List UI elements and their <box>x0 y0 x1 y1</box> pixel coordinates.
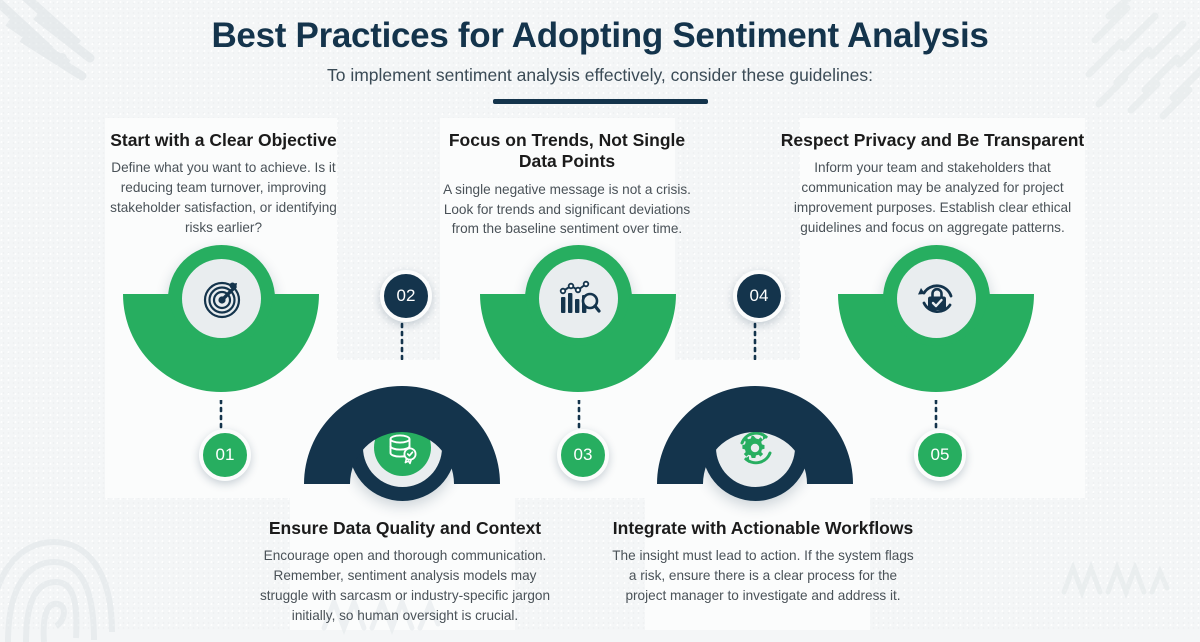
step-badge-5[interactable]: 05 <box>914 429 966 481</box>
step-badge-1[interactable]: 01 <box>199 429 251 481</box>
step-badge-2[interactable]: 02 <box>380 270 432 322</box>
step-title-1: Start with a Clear Objective <box>96 130 351 151</box>
step-badge-3[interactable]: 03 <box>557 429 609 481</box>
step-number-2: 02 <box>397 286 416 306</box>
step-text-1: Start with a Clear Objective Define what… <box>96 130 351 238</box>
step-body-4: The insight must lead to action. If the … <box>608 546 918 606</box>
step-body-3: A single negative message is not a crisi… <box>432 180 702 240</box>
step-title-2: Ensure Data Quality and Context <box>250 518 560 539</box>
page-subtitle: To implement sentiment analysis effectiv… <box>0 65 1200 86</box>
title-divider <box>493 99 708 104</box>
step-title-5: Respect Privacy and Be Transparent <box>770 130 1095 151</box>
step-node-4[interactable] <box>657 358 853 530</box>
step-node-2[interactable] <box>304 358 500 530</box>
step-body-1: Define what you want to achieve. Is it r… <box>96 158 351 237</box>
step-node-5[interactable] <box>838 248 1034 420</box>
step-arc-5 <box>838 248 1034 420</box>
wave-lines-bottom-right-icon <box>1060 560 1170 600</box>
step-node-1[interactable] <box>123 248 319 420</box>
step-number-3: 03 <box>574 445 593 465</box>
step-badge-4[interactable]: 04 <box>733 270 785 322</box>
header: Best Practices for Adopting Sentiment An… <box>0 16 1200 104</box>
step-number-4: 04 <box>750 286 769 306</box>
step-text-5: Respect Privacy and Be Transparent Infor… <box>770 130 1095 238</box>
step-arc-1 <box>123 248 319 420</box>
step-text-4: Integrate with Actionable Workflows The … <box>608 518 918 606</box>
step-body-2: Encourage open and thorough communicatio… <box>250 546 560 625</box>
fingerprint-spiral-bottom-left-icon <box>0 522 121 642</box>
step-arc-3 <box>480 248 676 420</box>
step-title-3: Focus on Trends, Not Single Data Points <box>432 130 702 173</box>
step-number-1: 01 <box>216 445 235 465</box>
step-text-2: Ensure Data Quality and Context Encourag… <box>250 518 560 626</box>
step-text-3: Focus on Trends, Not Single Data Points … <box>432 130 702 239</box>
step-node-3[interactable] <box>480 248 676 420</box>
step-number-5: 05 <box>931 445 950 465</box>
step-arc-2 <box>304 358 500 530</box>
step-title-4: Integrate with Actionable Workflows <box>608 518 918 539</box>
step-body-5: Inform your team and stakeholders that c… <box>770 158 1095 237</box>
step-arc-4 <box>657 358 853 530</box>
page-title: Best Practices for Adopting Sentiment An… <box>0 16 1200 56</box>
